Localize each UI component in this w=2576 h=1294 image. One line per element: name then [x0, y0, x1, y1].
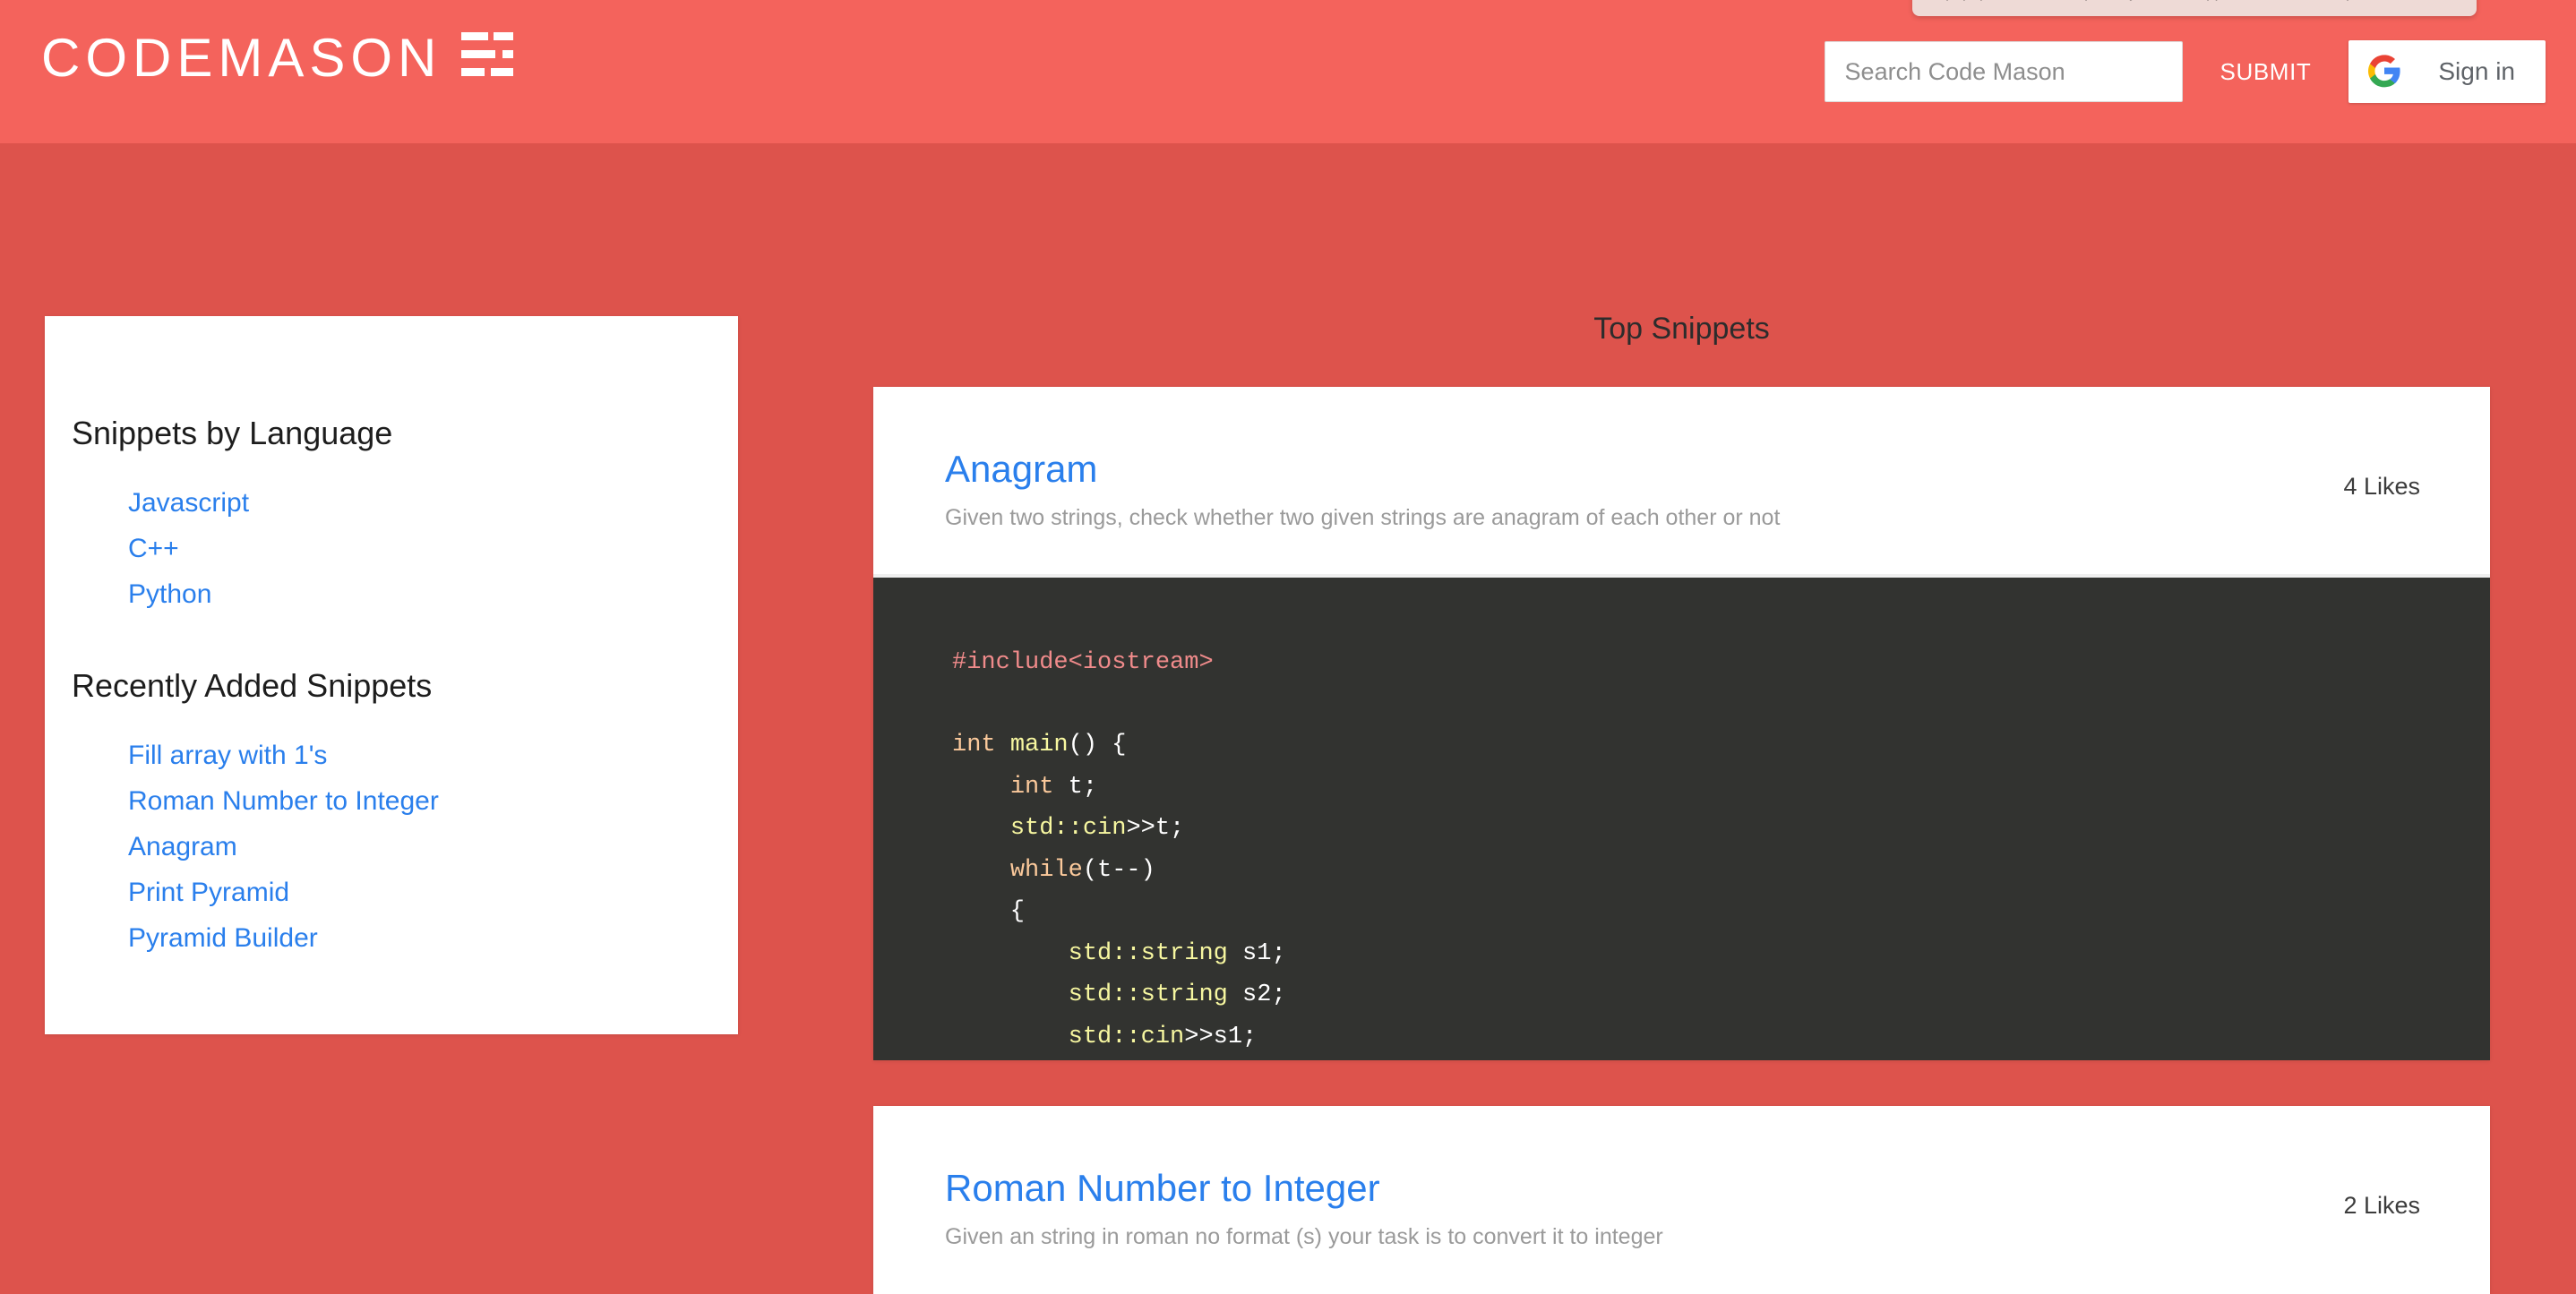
sidebar-recent-heading: Recently Added Snippets: [72, 667, 738, 705]
top-notification-popup[interactable]: A popup notification is partially visibl…: [1912, 0, 2477, 16]
sidebar-recent-print-pyramid[interactable]: Print Pyramid: [128, 878, 289, 907]
stacked-bars-logo-icon: [461, 30, 513, 85]
sidebar-item-python[interactable]: Python: [128, 579, 211, 609]
sidebar-languages-heading: Snippets by Language: [72, 415, 738, 452]
submit-button[interactable]: SUBMIT: [2220, 58, 2312, 86]
sidebar-item-javascript[interactable]: Javascript: [128, 488, 249, 518]
list-item: Fill array with 1's: [128, 741, 738, 771]
sidebar-item-cpp[interactable]: C++: [128, 534, 179, 563]
google-g-icon: [2366, 53, 2402, 91]
snippet-card: Anagram Given two strings, check whether…: [873, 387, 2490, 1060]
sidebar-card: Snippets by Language Javascript C++ Pyth…: [45, 316, 738, 1034]
sidebar-recent-anagram[interactable]: Anagram: [128, 832, 237, 861]
snippet-description: Given an string in roman no format (s) y…: [945, 1222, 2440, 1252]
brand-name: CODEMASON: [41, 31, 442, 85]
list-item: Roman Number to Integer: [128, 786, 738, 817]
header-actions: SUBMIT Sign in: [1825, 0, 2546, 143]
snippet-title-link[interactable]: Roman Number to Integer: [945, 1169, 1380, 1208]
snippet-card: Roman Number to Integer Given an string …: [873, 1106, 2490, 1294]
brand-logo[interactable]: CODEMASON: [41, 30, 513, 85]
likes-count: 4 Likes: [2343, 473, 2420, 501]
list-item: Pyramid Builder: [128, 923, 738, 954]
snippet-title-link[interactable]: Anagram: [945, 450, 1097, 489]
sidebar-recent-roman-number[interactable]: Roman Number to Integer: [128, 786, 439, 816]
code-preview[interactable]: #include<iostream> int main() { int t; s…: [873, 578, 2490, 1060]
list-item: Anagram: [128, 832, 738, 862]
sidebar-recent-pyramid-builder[interactable]: Pyramid Builder: [128, 923, 318, 953]
list-item: Python: [128, 579, 738, 610]
sidebar-language-list: Javascript C++ Python: [72, 488, 738, 610]
google-sign-in-label: Sign in: [2438, 57, 2515, 86]
list-item: Print Pyramid: [128, 878, 738, 908]
likes-count: 2 Likes: [2343, 1192, 2420, 1220]
sidebar-recent-list: Fill array with 1's Roman Number to Inte…: [72, 741, 738, 954]
snippet-card-header: Roman Number to Integer Given an string …: [873, 1106, 2490, 1293]
popup-message: A popup notification is partially visibl…: [1932, 0, 2372, 2]
page-title: Top Snippets: [873, 312, 2490, 347]
sidebar-recent-fill-array[interactable]: Fill array with 1's: [128, 741, 327, 770]
google-sign-in-button[interactable]: Sign in: [2348, 40, 2546, 103]
list-item: C++: [128, 534, 738, 564]
snippet-card-header: Anagram Given two strings, check whether…: [873, 387, 2490, 574]
search-input[interactable]: [1825, 41, 2183, 102]
close-icon[interactable]: ✕: [2448, 0, 2460, 2]
list-item: Javascript: [128, 488, 738, 518]
site-header: CODEMASON SUBMIT Si: [0, 0, 2576, 143]
snippet-description: Given two strings, check whether two giv…: [945, 503, 2440, 533]
